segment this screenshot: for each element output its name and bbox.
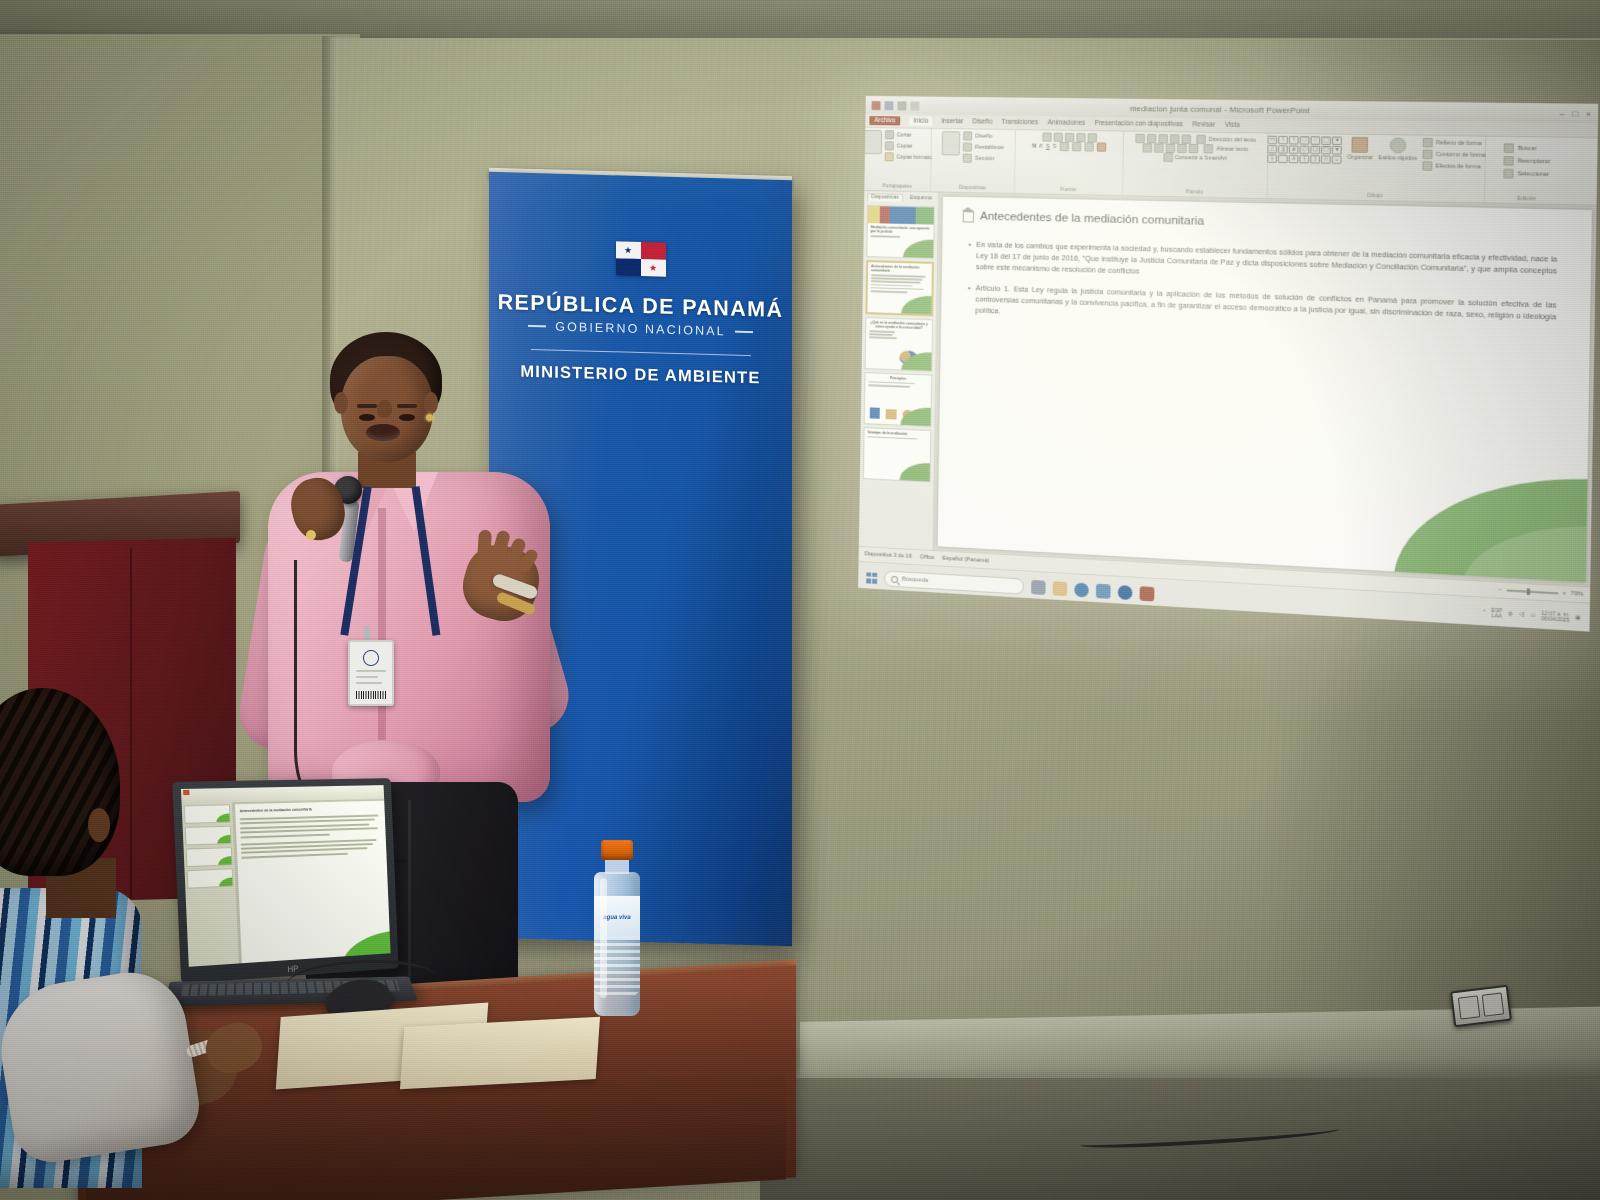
zoom-control[interactable]: − + 79% xyxy=(1498,587,1583,598)
battery-icon[interactable]: ▭ xyxy=(1530,613,1535,619)
shape-more-icon[interactable]: ▾ xyxy=(1332,137,1342,146)
banner-dash-right xyxy=(735,331,753,333)
numbering-icon[interactable] xyxy=(1147,134,1157,143)
thumbnail-list[interactable]: 1 Mediación comunitaria: una apuesta por… xyxy=(859,203,938,550)
group-label-edicion: Edición xyxy=(1517,196,1536,204)
bottle-cap xyxy=(601,840,633,860)
align-text-icon[interactable] xyxy=(1203,144,1213,153)
slide-bullet-1-text: En vista de los cambios que experimenta … xyxy=(976,240,1557,290)
increase-indent-icon[interactable] xyxy=(1170,134,1180,143)
shape-paren-r-icon[interactable]: ) xyxy=(1310,155,1320,164)
change-case-icon[interactable] xyxy=(1084,142,1093,151)
finger-ring xyxy=(306,530,316,540)
eye-right xyxy=(399,414,415,421)
slide-bullet-2-text: Artículo 1. Esta Ley regula la justicia … xyxy=(975,283,1556,335)
shape-outline-label: Contorno de forma xyxy=(1436,151,1486,158)
layout-icon[interactable] xyxy=(963,131,972,140)
reset-label: Restablecer xyxy=(975,144,1004,151)
home-icon xyxy=(963,211,974,222)
slide-bullet-2: • Artículo 1. Esta Ley regula la justici… xyxy=(967,283,1556,335)
paste-button[interactable] xyxy=(864,130,882,154)
flag-quadrant-red-top xyxy=(641,242,666,260)
decrease-indent-icon[interactable] xyxy=(1158,134,1168,143)
ribbon-group-portapapeles[interactable]: Cortar Copiar Copiar formato Portapapele… xyxy=(864,128,932,191)
text-direction-label: Dirección del texto xyxy=(1209,136,1256,143)
slide-counter: Diapositiva 3 de 16 xyxy=(865,551,912,560)
smartart-icon[interactable] xyxy=(1163,153,1173,162)
shape-line-icon[interactable]: \ xyxy=(1278,136,1288,144)
attendee-white-sweater-sleeve xyxy=(0,964,205,1167)
current-slide[interactable]: Antecedentes de la mediación comunitaria… xyxy=(938,197,1592,582)
tab-diapositivas[interactable]: Diapositivas xyxy=(867,193,903,202)
tab-archivo[interactable]: Archivo xyxy=(869,116,900,125)
store-icon[interactable] xyxy=(1096,584,1111,599)
section-label: Sección xyxy=(975,155,995,161)
volume-icon[interactable]: ◁) xyxy=(1518,613,1524,619)
format-painter-label: Copiar formato xyxy=(896,154,932,161)
shrink-font-icon[interactable] xyxy=(1076,133,1085,142)
zoom-out-icon[interactable]: − xyxy=(1498,587,1502,594)
attendee-ear xyxy=(88,808,110,842)
arrange-icon[interactable] xyxy=(1352,137,1369,153)
reset-icon[interactable] xyxy=(963,142,972,151)
group-label-parrafo: Párrafo xyxy=(1186,189,1203,197)
shape-diamond-icon[interactable]: ◇ xyxy=(1300,146,1310,155)
edge-icon[interactable] xyxy=(1074,582,1089,597)
shape-scroll-icon[interactable]: ▾ xyxy=(1332,146,1342,155)
eyebrow-right xyxy=(397,404,417,408)
cut-label: Cortar xyxy=(897,132,912,138)
shape-arrow-icon[interactable]: \ xyxy=(1289,136,1299,144)
slide-thumbnail-4[interactable]: 4 Principios xyxy=(864,372,933,427)
find-icon[interactable] xyxy=(1504,143,1514,153)
ribbon-group-fuente[interactable]: N K S S Fuente xyxy=(1015,130,1124,195)
thumb-title-1: Mediación comunitaria: una apuesta por l… xyxy=(871,225,931,235)
language-tray: ESP LAA xyxy=(1491,608,1502,620)
tab-transiciones[interactable]: Transiciones xyxy=(1002,119,1039,127)
slide-bullet-1: • En vista de los cambios que experiment… xyxy=(968,240,1557,290)
shape-gallery-more-icon[interactable]: ⌄ xyxy=(1332,155,1342,164)
group-label-portapapeles: Portapapeles xyxy=(882,183,911,191)
ribbon-group-parrafo[interactable]: Dirección del texto Alinear texto Conver… xyxy=(1123,132,1269,199)
powerpoint-window[interactable]: mediacion junta comunal - Microsoft Powe… xyxy=(858,96,1598,632)
shape-fill-label: Relleno de forma xyxy=(1436,140,1482,147)
align-text-label: Alinear texto xyxy=(1216,146,1248,153)
zoom-slider[interactable] xyxy=(1506,590,1558,595)
align-right-icon[interactable] xyxy=(1166,143,1176,152)
flag-quadrant-white-bottom: ★ xyxy=(641,259,666,277)
section-icon[interactable] xyxy=(963,154,972,163)
ear-right xyxy=(424,392,438,414)
shape-arc-icon[interactable]: ⌒ xyxy=(1278,155,1288,163)
search-placeholder: Búsqueda xyxy=(902,576,928,584)
shape-curve-icon[interactable]: ʓ xyxy=(1278,145,1288,153)
theme-name[interactable]: Office xyxy=(920,554,935,561)
flag-star-blue: ★ xyxy=(624,246,632,255)
earring xyxy=(426,414,433,421)
bullets-icon[interactable] xyxy=(1135,134,1145,143)
tab-insertar[interactable]: Insertar xyxy=(941,118,963,125)
outlook-icon[interactable] xyxy=(1118,585,1133,600)
font-size-box[interactable] xyxy=(1053,133,1062,142)
quick-styles-icon[interactable] xyxy=(1390,137,1407,153)
shapes-gallery[interactable]: ▭ \ \ □ ○ ▢ ▾ △ ʓ ʑ ◇ ⬠ ⬡ xyxy=(1267,136,1342,164)
shape-triangle-icon[interactable]: △ xyxy=(1267,145,1277,153)
group-label-dibujo: Dibujo xyxy=(1367,193,1383,201)
columns-icon[interactable] xyxy=(1189,144,1199,153)
replace-label: Reemplazar xyxy=(1518,158,1551,165)
slide-thumbnail-2[interactable]: 2 Antecedentes de la mediación comunitar… xyxy=(865,260,934,316)
align-center-icon[interactable] xyxy=(1154,143,1164,152)
slide-thumbnail-pane[interactable]: Diapositivas Esquema 1 Mediación comunit… xyxy=(859,191,939,550)
bold-button[interactable]: N xyxy=(1032,143,1036,149)
italic-button[interactable]: K xyxy=(1039,143,1043,149)
wall-power-outlet-icon xyxy=(1450,985,1512,1028)
slide-content-placeholder[interactable]: • En vista de los cambios que experiment… xyxy=(967,240,1557,346)
shadow-button[interactable]: S xyxy=(1053,143,1057,149)
justify-icon[interactable] xyxy=(1177,144,1187,153)
bottle-highlight xyxy=(600,878,607,998)
line-spacing-icon[interactable] xyxy=(1181,134,1191,143)
water-bottle: agua viva xyxy=(586,840,648,1016)
layout-label: Diseño xyxy=(975,133,992,139)
clear-format-icon[interactable] xyxy=(1087,133,1096,142)
eye-left xyxy=(359,414,375,421)
attendee-braided-hair xyxy=(0,688,120,876)
font-color-icon[interactable] xyxy=(1097,142,1106,151)
select-label: Seleccionar xyxy=(1517,171,1549,178)
shape-fill-icon[interactable] xyxy=(1423,138,1433,148)
shape-effects-icon[interactable] xyxy=(1422,161,1432,171)
seated-attendee xyxy=(0,688,230,1200)
find-label: Buscar xyxy=(1518,145,1537,152)
thumb-title-2: Antecedentes de la mediación comunitaria xyxy=(871,264,929,274)
copy-label: Copiar xyxy=(896,143,912,149)
tab-presentacion[interactable]: Presentación con diapositivas xyxy=(1094,120,1182,128)
task-view-icon[interactable] xyxy=(1031,580,1046,595)
eyebrow-left xyxy=(357,404,377,408)
clock: 12:07 a. m. 06/04/2025 xyxy=(1541,611,1569,624)
windows-start-icon[interactable] xyxy=(866,572,877,584)
shape-hexagon-icon[interactable]: ⬡ xyxy=(1321,146,1331,155)
flag-quadrant-blue-bottom xyxy=(616,258,641,276)
format-painter-icon[interactable] xyxy=(884,152,893,161)
shape-brace-icon[interactable]: ∧ xyxy=(1289,155,1299,164)
shape-outline-icon[interactable] xyxy=(1422,149,1432,159)
mini-current-slide: Antecedentes de la mediación comunitaria xyxy=(235,801,390,967)
strike-icon[interactable] xyxy=(1059,142,1068,151)
quick-styles-label: Estilos rápidos xyxy=(1378,155,1417,162)
network-icon[interactable]: ◍ xyxy=(1508,612,1513,618)
presenter-nose xyxy=(377,400,392,418)
shape-effects-label: Efectos de forma xyxy=(1435,163,1480,170)
align-left-icon[interactable] xyxy=(1143,143,1153,152)
bottle-brand-text: agua viva xyxy=(603,915,630,921)
tray-keyboard[interactable]: LAA xyxy=(1491,613,1502,620)
slide-thumbnail-1[interactable]: 1 Mediación comunitaria: una apuesta por… xyxy=(866,205,935,259)
group-label-diapositivas: Diapositivas xyxy=(959,185,986,193)
system-tray[interactable]: ^ ESP LAA ◍ ◁) ▭ 12:07 a. m. 06/04/2025 … xyxy=(1483,608,1581,625)
tab-diseno[interactable]: Diseño xyxy=(972,118,992,125)
select-icon[interactable] xyxy=(1504,169,1514,179)
panama-flag-icon: ★ ★ xyxy=(616,241,666,276)
slide-thumbnail-5[interactable]: 5 Ventajas de la mediación xyxy=(863,427,932,482)
font-name-box[interactable] xyxy=(1042,132,1051,141)
clock-date[interactable]: 06/04/2025 xyxy=(1541,616,1569,624)
powerpoint-icon[interactable] xyxy=(1140,586,1155,601)
ribbon-group-dibujo[interactable]: ▭ \ \ □ ○ ▢ ▾ △ ʓ ʑ ◇ ⬠ ⬡ xyxy=(1268,134,1486,203)
ribbon-group-diapositivas[interactable]: Diseño Restablecer Sección Diapositivas xyxy=(931,129,1016,193)
show-hidden-icons-icon[interactable]: ^ xyxy=(1483,611,1486,617)
shape-flow-icon[interactable]: ⏚ xyxy=(1267,154,1277,162)
file-explorer-icon[interactable] xyxy=(1053,581,1068,596)
group-label-fuente: Fuente xyxy=(1060,187,1076,194)
char-spacing-icon[interactable] xyxy=(1072,142,1081,151)
slide-editing-stage[interactable]: Antecedentes de la mediación comunitaria… xyxy=(933,192,1596,586)
shape-rect-icon[interactable]: ▭ xyxy=(1268,136,1278,144)
zoom-level: 79% xyxy=(1570,591,1583,598)
conference-room-photo: mediacion junta comunal - Microsoft Powe… xyxy=(0,0,1600,1200)
slide-title[interactable]: Antecedentes de la mediación comunitaria xyxy=(963,210,1572,236)
tab-revisar[interactable]: Revisar xyxy=(1192,121,1215,129)
tab-animaciones[interactable]: Animaciones xyxy=(1048,119,1086,127)
shape-square-icon[interactable]: □ xyxy=(1300,136,1310,144)
slide-thumbnail-3[interactable]: 3 ¿Qué es la mediación comunitaria y cóm… xyxy=(865,317,934,372)
powerpoint-workspace: Diapositivas Esquema 1 Mediación comunit… xyxy=(859,191,1597,587)
slide-title-text: Antecedentes de la mediación comunitaria xyxy=(980,211,1204,228)
flag-quadrant-white-top: ★ xyxy=(616,241,641,259)
shape-oval-icon[interactable]: ○ xyxy=(1311,136,1321,145)
projected-screen: mediacion junta comunal - Microsoft Powe… xyxy=(858,96,1598,632)
shape-star-icon[interactable]: ☆ xyxy=(1321,155,1331,164)
tab-inicio[interactable]: Inicio xyxy=(909,117,932,126)
arrange-label: Organizar xyxy=(1347,155,1373,162)
ribbon-group-edicion[interactable]: Buscar Reemplazar Seleccionar Edición xyxy=(1485,137,1569,205)
banner-dash-left xyxy=(528,325,546,327)
notifications-icon[interactable]: ▣ xyxy=(1575,616,1580,622)
grow-font-icon[interactable] xyxy=(1064,133,1073,142)
copy-icon[interactable] xyxy=(884,141,893,150)
tab-esquema[interactable]: Esquema xyxy=(906,194,936,203)
presenter-mouth-speaking xyxy=(366,424,400,441)
cut-icon[interactable] xyxy=(885,130,894,139)
language-indicator[interactable]: Español (Panamá) xyxy=(942,556,989,565)
new-slide-button[interactable] xyxy=(942,131,960,155)
smartart-label: Convertir a SmartArt xyxy=(1175,154,1227,161)
zoom-in-icon[interactable]: + xyxy=(1562,590,1566,597)
shape-rounded-icon[interactable]: ▢ xyxy=(1321,136,1331,145)
bullet-marker: • xyxy=(968,240,971,273)
replace-icon[interactable] xyxy=(1504,156,1514,166)
bullet-marker: • xyxy=(967,283,970,316)
underline-button[interactable]: S xyxy=(1046,143,1050,149)
text-direction-icon[interactable] xyxy=(1196,135,1206,144)
thumb-title-3: ¿Qué es la mediación comunitaria y cómo … xyxy=(869,320,929,331)
tab-vista[interactable]: Vista xyxy=(1225,122,1240,129)
ear-left xyxy=(334,392,348,414)
search-icon xyxy=(891,575,898,582)
mini-stage: Antecedentes de la mediación comunitaria xyxy=(232,785,391,963)
shape-freeform-icon[interactable]: ʑ xyxy=(1289,145,1299,153)
bottle-neck xyxy=(605,858,629,874)
shape-paren-l-icon[interactable]: ( xyxy=(1300,155,1310,164)
flag-star-red: ★ xyxy=(649,263,657,272)
shape-pentagon-icon[interactable]: ⬠ xyxy=(1310,146,1320,155)
paper-stack-2 xyxy=(400,1017,600,1090)
mini-slide-title: Antecedentes de la mediación comunitaria xyxy=(240,806,386,814)
